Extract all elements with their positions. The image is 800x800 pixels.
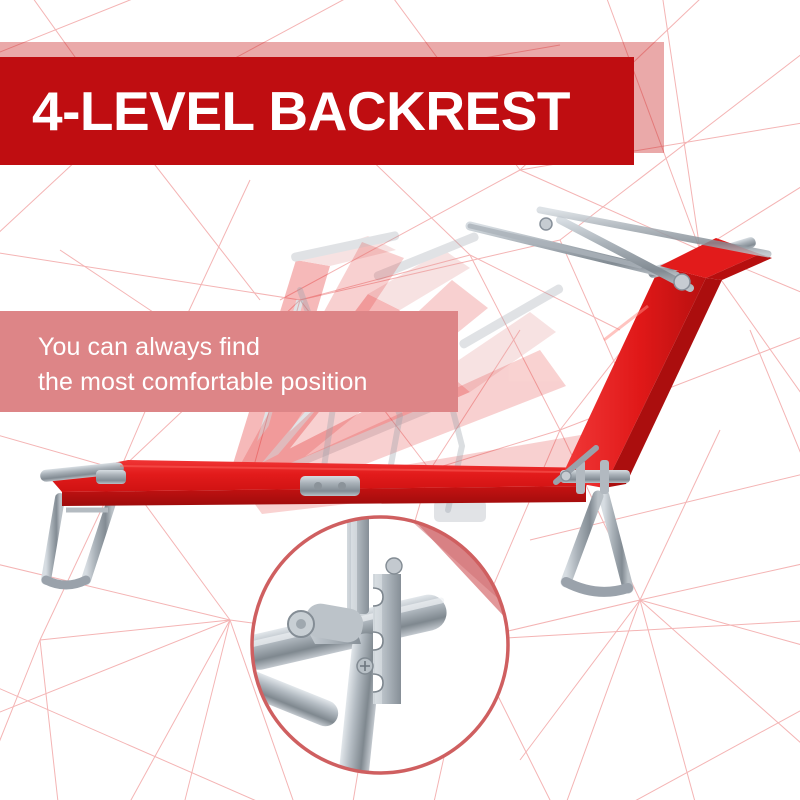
detail-circle-ring: [252, 517, 508, 773]
subtitle-line-1: You can always find: [38, 330, 448, 365]
headline-title: 4-LEVEL BACKREST: [32, 64, 622, 158]
subtitle-text-block: You can always find the most comfortable…: [38, 330, 448, 400]
product-feature-graphic: 4-LEVEL BACKREST You can always find the…: [0, 0, 800, 800]
detail-callout-circle: [249, 514, 511, 776]
subtitle-line-2: the most comfortable position: [38, 365, 448, 400]
